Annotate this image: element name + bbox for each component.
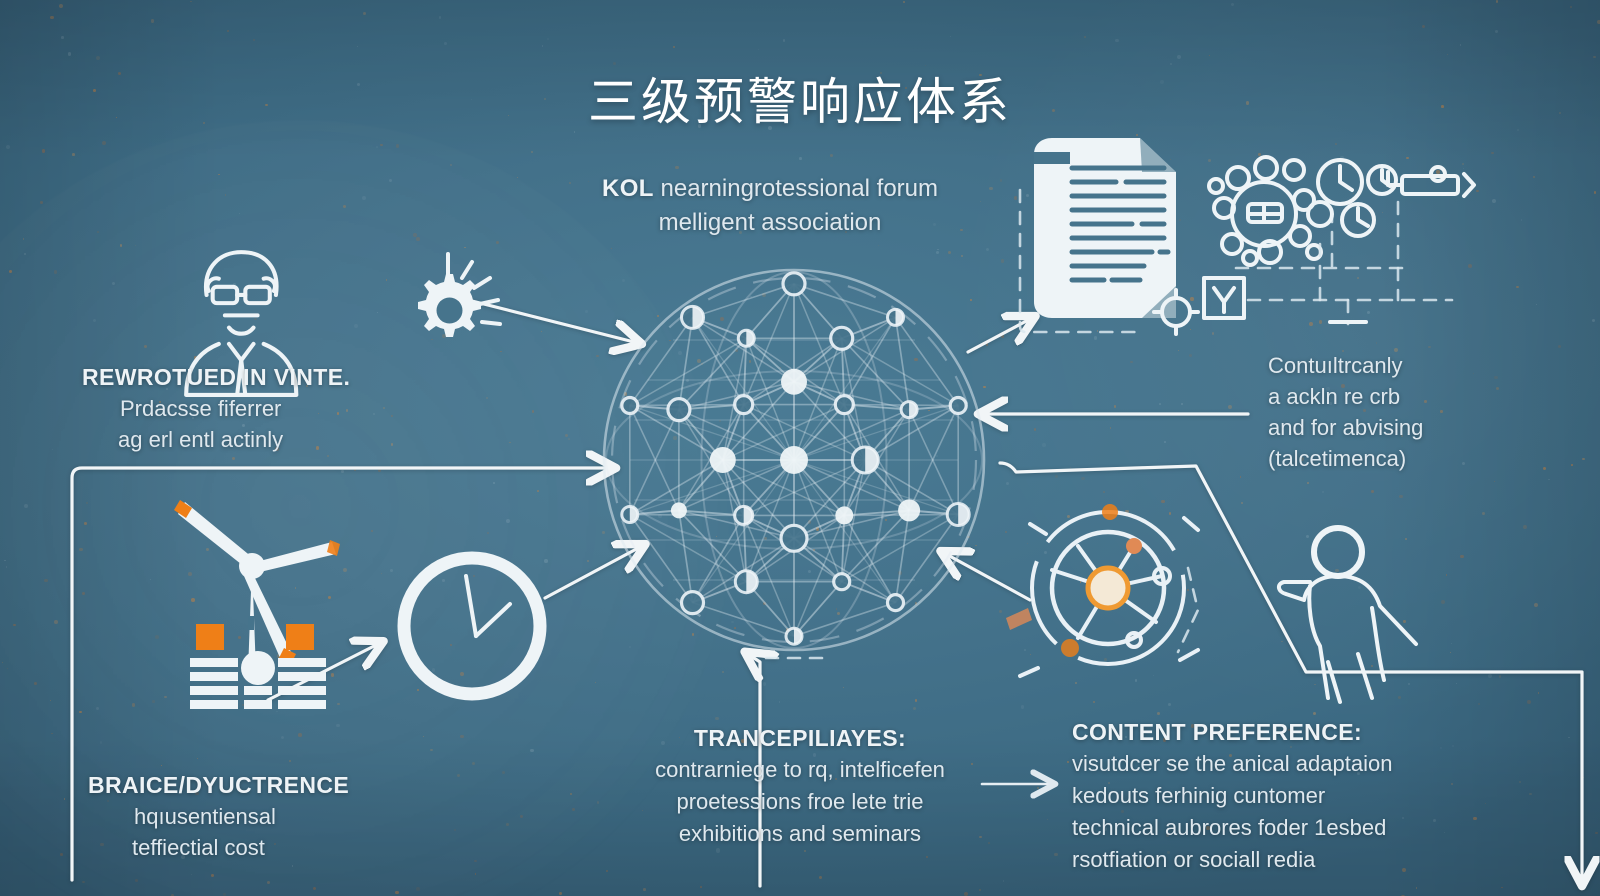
expert-review-line-2: ag erl entl actinly: [82, 424, 412, 455]
kol-line-2: melligent association: [560, 206, 980, 240]
infographic-canvas: 三级预警响应体系: [0, 0, 1600, 896]
content-preference-line-4: rsotfiation or sociall redia: [1072, 844, 1502, 876]
consultancy-line-2: a ackln re crb: [1268, 381, 1568, 412]
content-preference-line-1: visutdcer se the anical adaptaion: [1072, 748, 1502, 780]
kol-association-label: KOL KOL nearningrotessional forum nearni…: [560, 172, 980, 240]
kol-bold-prefix: KOL: [602, 175, 654, 202]
clock-icon: [404, 558, 540, 694]
content-preference-label: CONTENT PREFERENCE: visutdcer se the ani…: [1072, 716, 1502, 876]
tech-cluster-icon: [1204, 157, 1474, 324]
trade-channels-line-1: contrarniege to rq, intelficefen: [600, 754, 1000, 786]
expert-review-heading: REWROTUED IN VINTE.: [82, 362, 412, 393]
trade-channels-heading: TRANCEPILIAYES:: [600, 722, 1000, 754]
trade-channels-label: TRANCEPILIAYES: contrarniege to rq, inte…: [600, 722, 1000, 850]
price-difference-heading: BRAICE/DYUCTRENCE: [88, 770, 418, 801]
consultancy-label: Contuıltrcanly a ackln re crb and for ab…: [1268, 350, 1568, 474]
consultancy-line-1: Contuıltrcanly: [1268, 350, 1568, 381]
kol-line-1-rest: nearningrotessional forum: [661, 175, 939, 202]
trade-channels-line-2: proetessions froe lete trie: [600, 786, 1000, 818]
price-difference-line-2: teffiectial cost: [88, 832, 418, 863]
gear-shine-icon: [418, 254, 500, 337]
consultancy-line-3: and for abvising: [1268, 412, 1568, 443]
person-arms-out-icon: [1279, 528, 1416, 702]
content-preference-line-3: technical aubrores foder 1esbed: [1072, 812, 1502, 844]
expert-review-line-1: Prdacsse fiferrer: [82, 393, 412, 424]
trade-channels-line-3: exhibitions and seminars: [600, 818, 1000, 850]
price-difference-line-1: hqıusentiensal: [88, 801, 418, 832]
consultancy-line-4: (talcetimenca): [1268, 443, 1568, 474]
expert-review-label: REWROTUED IN VINTE. Prdacsse fiferrer ag…: [82, 362, 412, 455]
content-preference-heading: CONTENT PREFERENCE:: [1072, 716, 1502, 748]
data-blocks-icon: [190, 624, 326, 709]
document-report-icon: [1020, 138, 1198, 334]
content-preference-line-2: kedouts ferhinig cuntomer: [1072, 780, 1502, 812]
atom-orbit-icon: [1006, 504, 1198, 676]
price-difference-label: BRAICE/DYUCTRENCE hqıusentiensal teffiec…: [88, 770, 418, 863]
